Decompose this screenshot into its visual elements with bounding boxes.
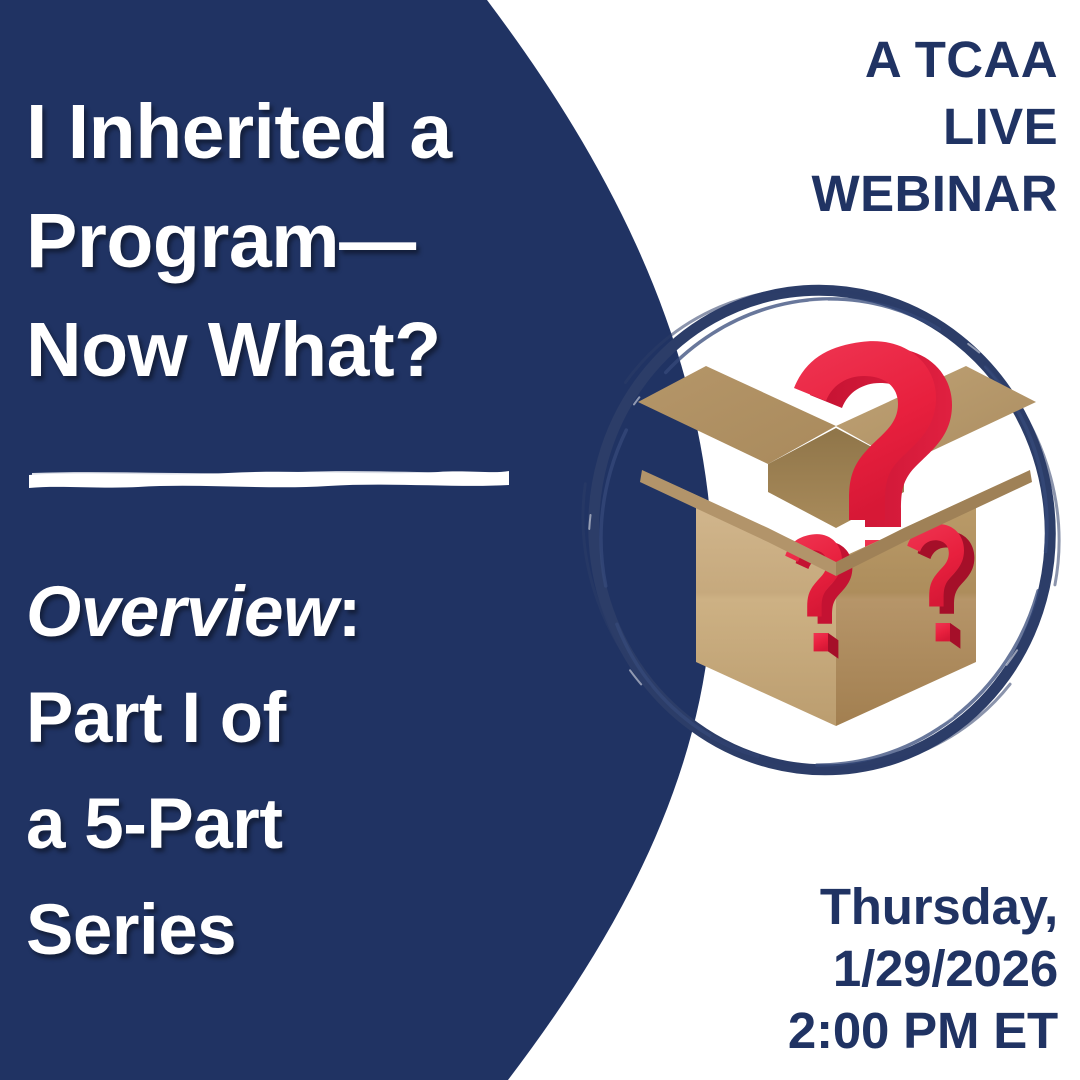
- headline-line-3: Now What?: [26, 296, 546, 405]
- left-text-column: I Inherited a Program— Now What? Overvie…: [26, 0, 546, 1080]
- headline-line-2: Program—: [26, 187, 546, 296]
- webinar-promo-poster: I Inherited a Program— Now What? Overvie…: [0, 0, 1080, 1080]
- event-time: 2:00 PM ET: [598, 1000, 1058, 1062]
- subtitle-emphasis: Overview: [26, 573, 338, 652]
- event-day: Thursday,: [598, 876, 1058, 938]
- kicker-line-3: WEBINAR: [638, 160, 1058, 227]
- subtitle-emphasis-suffix: :: [338, 573, 361, 652]
- event-datetime: Thursday, 1/29/2026 2:00 PM ET: [598, 876, 1058, 1062]
- mystery-box-illustration: [578, 268, 1078, 798]
- subtitle: Overview: Part I of a 5-Part Series: [26, 560, 546, 984]
- subtitle-line-1: Part I of: [26, 666, 546, 772]
- brush-divider: [28, 466, 510, 490]
- subtitle-line-3: Series: [26, 878, 546, 984]
- event-date: 1/29/2026: [598, 938, 1058, 1000]
- headline-line-1: I Inherited a: [26, 78, 546, 187]
- page-title: I Inherited a Program— Now What?: [26, 78, 546, 405]
- subtitle-line-2: a 5-Part: [26, 772, 546, 878]
- open-box-question-marks-icon: [636, 306, 1036, 756]
- kicker-line-1: A TCAA: [638, 26, 1058, 93]
- kicker-line-2: LIVE: [638, 93, 1058, 160]
- webinar-kicker: A TCAA LIVE WEBINAR: [638, 26, 1058, 227]
- subtitle-emphasis-line: Overview:: [26, 560, 546, 666]
